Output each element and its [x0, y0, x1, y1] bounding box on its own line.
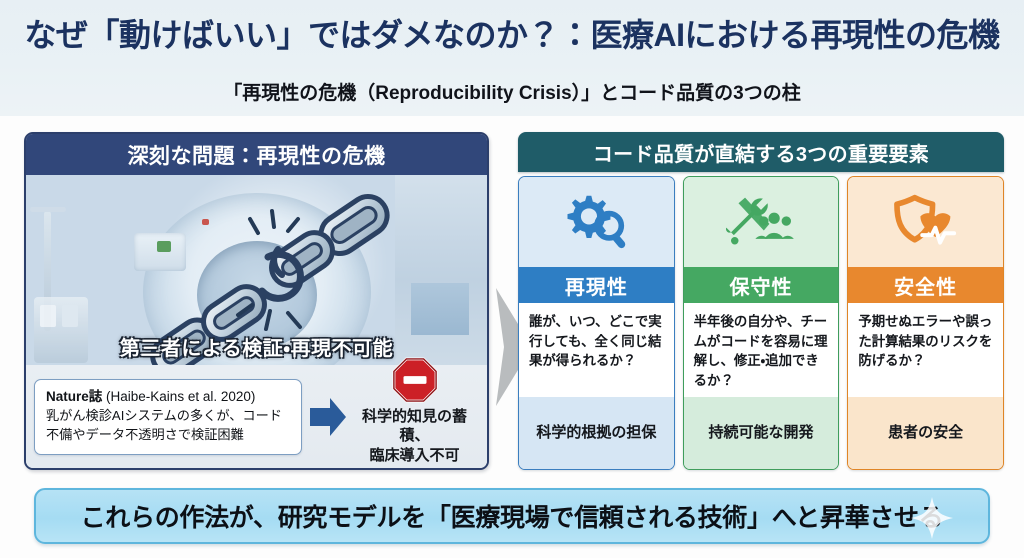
card-footer-maintainability: 持続可能な開発 — [684, 397, 839, 469]
card-footer-safety: 患者の安全 — [848, 397, 1003, 469]
nature-citation: (Haibe-Kains et al. 2020) — [106, 389, 255, 404]
quality-panel-header: コード品質が直結する3つの重要要素 — [518, 132, 1004, 172]
gear-magnifier-icon — [519, 177, 674, 267]
nature-source-line: Nature誌 (Haibe-Kains et al. 2020) — [46, 388, 292, 406]
blue-right-arrow-icon — [308, 394, 348, 440]
nature-finding-text: 乳がん検診AIシステムの多くが、コード不備やデータ不透明さで検証困難 — [46, 407, 292, 444]
wrench-team-icon — [684, 177, 839, 267]
page-subtitle: 「再現性の危機（Reproducibility Crisis）」とコード品質の3… — [0, 78, 1024, 105]
quality-panel: コード品質が直結する3つの重要要素 再現性 誰が、いつ、どこで実行しても、 — [518, 132, 1004, 470]
quality-card-reproducibility[interactable]: 再現性 誰が、いつ、どこで実行しても、全く同じ結果が得られるか？ 科学的根拠の担… — [518, 176, 675, 470]
consequence-line-2: 臨床導入不可 — [350, 446, 479, 466]
quality-card-list: 再現性 誰が、いつ、どこで実行しても、全く同じ結果が得られるか？ 科学的根拠の担… — [518, 176, 1004, 470]
consequence-block: 科学的知見の蓄積、 臨床導入不可 — [350, 369, 479, 466]
page-title: なぜ「動けばいい」ではダメなのか？：医療AIにおける再現性の危機 — [0, 10, 1024, 56]
conclusion-banner: これらの作法が、研究モデルを「医療現場で信頼される技術」へと昇華させる — [34, 488, 990, 544]
card-label-safety: 安全性 — [848, 267, 1003, 303]
card-label-reproducibility: 再現性 — [519, 267, 674, 303]
nature-journal: Nature誌 — [46, 389, 102, 404]
card-body-maintainability: 半年後の自分や、チームがコードを容易に理解し、修正・追加できるか？ — [684, 303, 839, 397]
quality-card-maintainability[interactable]: 保守性 半年後の自分や、チームがコードを容易に理解し、修正・追加できるか？ 持続… — [683, 176, 840, 470]
card-body-reproducibility: 誰が、いつ、どこで実行しても、全く同じ結果が得られるか？ — [519, 303, 674, 397]
evidence-row: Nature誌 (Haibe-Kains et al. 2020) 乳がん検診A… — [26, 365, 487, 469]
consequence-text: 科学的知見の蓄積、 臨床導入不可 — [350, 407, 479, 466]
red-stop-sign-icon — [392, 357, 438, 408]
sparkle-icon — [910, 496, 954, 540]
quality-card-safety[interactable]: 安全性 予期せぬエラーや誤った計算結果のリスクを防げるか？ 患者の安全 — [847, 176, 1004, 470]
nature-citation-box: Nature誌 (Haibe-Kains et al. 2020) 乳がん検診A… — [34, 379, 302, 455]
slide-root: なぜ「動けばいい」ではダメなのか？：医療AIにおける再現性の危機 「再現性の危機… — [0, 0, 1024, 558]
consequence-line-1: 科学的知見の蓄積、 — [350, 407, 479, 446]
conclusion-text: これらの作法が、研究モデルを「医療現場で信頼される技術」へと昇華させる — [81, 498, 944, 534]
problem-panel: 深刻な問題：再現性の危機 — [24, 132, 489, 470]
card-label-maintainability: 保守性 — [684, 267, 839, 303]
problem-panel-header: 深刻な問題：再現性の危機 — [26, 134, 487, 175]
mri-scanner-photo: 第三者による検証・再現不可能 — [26, 175, 487, 365]
shield-heartbeat-icon — [848, 177, 1003, 267]
card-footer-reproducibility: 科学的根拠の担保 — [519, 397, 674, 469]
card-body-safety: 予期せぬエラーや誤った計算結果のリスクを防げるか？ — [848, 303, 1003, 397]
